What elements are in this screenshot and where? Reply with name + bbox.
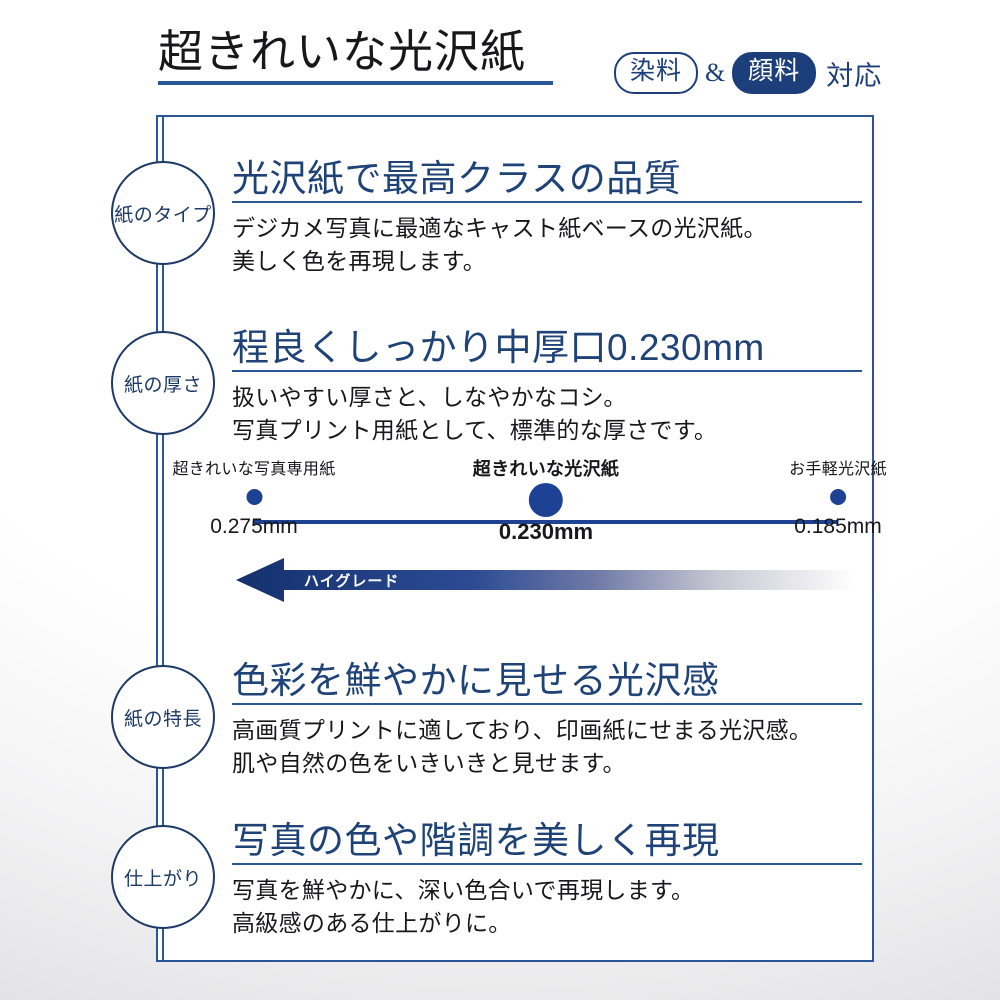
section-divider xyxy=(232,703,862,705)
badge-compatible-label: 対応 xyxy=(820,54,882,93)
section-heading: 写真の色や階調を美しく再現 xyxy=(232,820,862,861)
section-body-line: 写真プリント用紙として、標準的な厚さです。 xyxy=(232,414,862,447)
scale-node-value: 0.230mm xyxy=(473,519,619,545)
section-body: 扱いやすい厚さと、しなやかなコシ。 写真プリント用紙として、標準的な厚さです。 xyxy=(232,381,862,446)
section-badge-paper-type: 紙のタイプ xyxy=(111,161,215,265)
page-title: 超きれいな光沢紙 xyxy=(158,28,568,77)
scale-node-dot xyxy=(529,483,563,517)
section-body-line: デジカメ写真に最適なキャスト紙ベースの光沢紙。 xyxy=(232,212,862,245)
scale-node-label: 超きれいな光沢紙 xyxy=(473,455,619,481)
scale-node-dot xyxy=(246,489,262,505)
section-paper-thickness: 程良くしっかり中厚口0.230mm 扱いやすい厚さと、しなやかなコシ。 写真プリ… xyxy=(232,327,862,447)
section-badge-label: 紙の特長 xyxy=(124,704,202,731)
section-body-line: 扱いやすい厚さと、しなやかなコシ。 xyxy=(232,381,862,414)
section-body-line: 肌や自然の色をいきいきと見せます。 xyxy=(232,747,862,780)
section-divider xyxy=(232,201,862,203)
section-badge-finish: 仕上がり xyxy=(111,825,215,929)
scale-node-value: 0.275mm xyxy=(172,515,335,539)
section-badge-paper-thickness: 紙の厚さ xyxy=(111,331,215,435)
title-underline xyxy=(158,81,553,85)
section-body: 写真を鮮やかに、深い色合いで再現します。 高級感のある仕上がりに。 xyxy=(232,874,862,939)
scale-node-current: 超きれいな光沢紙 0.230mm xyxy=(473,455,619,545)
section-divider xyxy=(232,863,862,865)
scale-node-dot xyxy=(830,489,846,505)
arrow-label: ハイグレード xyxy=(304,570,399,591)
section-paper-type: 光沢紙で最高クラスの品質 デジカメ写真に最適なキャスト紙ベースの光沢紙。 美しく… xyxy=(232,158,862,278)
section-divider xyxy=(232,370,862,372)
section-body-line: 写真を鮮やかに、深い色合いで再現します。 xyxy=(232,874,862,907)
section-heading: 光沢紙で最高クラスの品質 xyxy=(232,158,862,199)
page-title-block: 超きれいな光沢紙 xyxy=(158,28,568,85)
section-finish: 写真の色や階調を美しく再現 写真を鮮やかに、深い色合いで再現します。 高級感のあ… xyxy=(232,820,862,940)
section-body-line: 高画質プリントに適しており、印画紙にせまる光沢感。 xyxy=(232,714,862,747)
section-body-line: 高級感のある仕上がりに。 xyxy=(232,907,862,940)
badge-dye-ink: 染料 xyxy=(614,52,698,94)
scale-node-right: お手軽光沢紙 0.185mm xyxy=(789,455,887,539)
section-body-line: 美しく色を再現します。 xyxy=(232,245,862,278)
scale-node-value: 0.185mm xyxy=(789,515,887,539)
section-heading: 色彩を鮮やかに見せる光沢感 xyxy=(232,660,862,701)
scale-node-left: 超きれいな写真専用紙 0.275mm xyxy=(172,455,335,539)
scale-node-label: お手軽光沢紙 xyxy=(789,455,887,479)
badge-pigment-ink: 顔料 xyxy=(732,52,816,94)
ink-compatibility-badges: 染料 & 顔料 対応 xyxy=(614,52,882,94)
section-paper-feature: 色彩を鮮やかに見せる光沢感 高画質プリントに適しており、印画紙にせまる光沢感。 … xyxy=(232,660,862,780)
section-body: 高画質プリントに適しており、印画紙にせまる光沢感。 肌や自然の色をいきいきと見せ… xyxy=(232,714,862,779)
scale-node-label: 超きれいな写真専用紙 xyxy=(172,455,335,479)
section-badge-label: 紙の厚さ xyxy=(124,370,202,397)
section-badge-label: 紙のタイプ xyxy=(114,200,212,227)
section-badge-paper-feature: 紙の特長 xyxy=(111,665,215,769)
section-body: デジカメ写真に最適なキャスト紙ベースの光沢紙。 美しく色を再現します。 xyxy=(232,212,862,277)
badge-ampersand: & xyxy=(702,58,728,88)
section-heading: 程良くしっかり中厚口0.230mm xyxy=(232,327,862,368)
infographic-page: 超きれいな光沢紙 染料 & 顔料 対応 紙のタイプ 紙の厚さ 紙の特長 仕上がり… xyxy=(0,0,1000,1000)
section-badge-label: 仕上がり xyxy=(124,864,202,891)
high-grade-arrow: ハイグレード xyxy=(236,557,856,603)
